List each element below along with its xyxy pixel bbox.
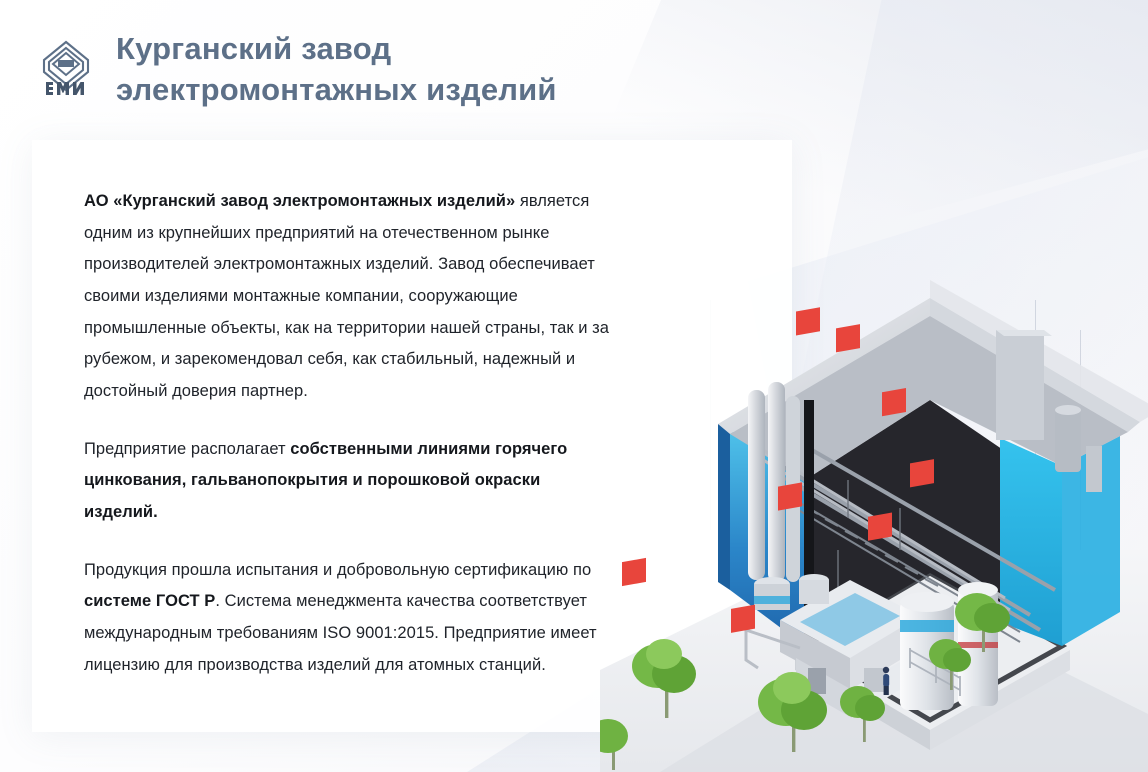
company-logo [38, 38, 94, 100]
worker-figure [883, 667, 889, 695]
marker-red [836, 324, 860, 352]
kzemi-diamond-logo-icon [38, 38, 94, 100]
marker-red [731, 605, 755, 633]
wall-left-blue-edge [718, 424, 730, 590]
marker-red [796, 307, 820, 335]
marker-red [868, 513, 892, 541]
marker-red [622, 558, 646, 586]
gost-r-highlight: системе ГОСТ Р [84, 592, 215, 610]
paragraph-about-company-rest: является одним из крупнейших предприятий… [84, 192, 609, 400]
marker-red [910, 459, 934, 487]
paragraph-about-company: АО «Курганский завод электромонтажных из… [84, 186, 614, 408]
slide-header: Курганский завод электромонтажных издели… [38, 28, 557, 110]
factory-illustration [600, 250, 1148, 772]
company-legal-name: АО «Курганский завод электромонтажных из… [84, 192, 515, 210]
production-lines-intro: Предприятие располагает [84, 440, 290, 458]
vertical-pipes [748, 382, 800, 582]
marker-red [778, 482, 802, 510]
marker-red [882, 388, 906, 416]
page-title: Курганский завод электромонтажных издели… [116, 28, 557, 110]
slide-canvas: Курганский завод электромонтажных издели… [0, 0, 1148, 772]
paragraph-certification: Продукция прошла испытания и добровольну… [84, 555, 614, 682]
isometric-factory-cutaway-graphic [600, 250, 1148, 772]
certification-part1: Продукция прошла испытания и добровольну… [84, 561, 591, 579]
paragraph-production-lines: Предприятие располагает собственными лин… [84, 434, 614, 529]
